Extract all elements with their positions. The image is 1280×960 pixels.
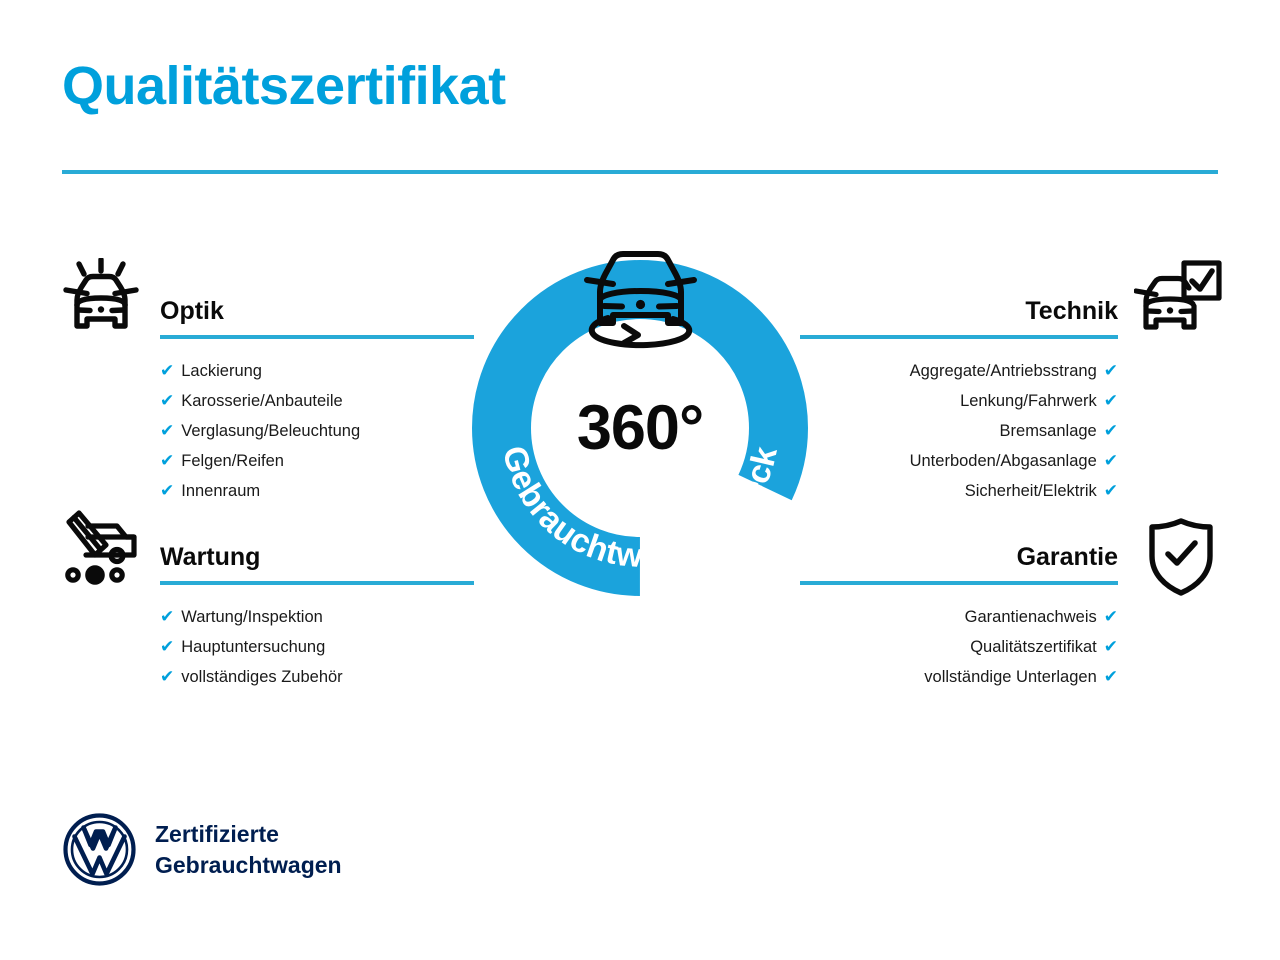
check-icon: ✔ bbox=[1104, 607, 1118, 626]
car-front-rotate-icon bbox=[568, 240, 713, 350]
check-icon: ✔ bbox=[1104, 451, 1118, 470]
section-technik: Technik Aggregate/Antriebsstrang✔ Lenkun… bbox=[800, 298, 1118, 506]
section-garantie: Garantie Garantienachweis✔ Qualitätszert… bbox=[800, 544, 1118, 692]
check-icon: ✔ bbox=[160, 481, 174, 500]
checklist-technik: Aggregate/Antriebsstrang✔ Lenkung/Fahrwe… bbox=[800, 356, 1118, 506]
pencil-car-service-icon bbox=[60, 510, 142, 597]
car-front-shine-icon bbox=[60, 258, 142, 347]
list-item-label: vollständiges Zubehör bbox=[181, 668, 342, 686]
list-item-label: Lackierung bbox=[181, 362, 262, 380]
list-item: ✔Felgen/Reifen bbox=[160, 446, 474, 476]
list-item: ✔vollständiges Zubehör bbox=[160, 662, 474, 692]
checklist-optik: ✔Lackierung ✔Karosserie/Anbauteile ✔Verg… bbox=[160, 356, 474, 506]
check-icon: ✔ bbox=[160, 451, 174, 470]
list-item: ✔Karosserie/Anbauteile bbox=[160, 386, 474, 416]
list-item: Qualitätszertifikat✔ bbox=[800, 632, 1118, 662]
list-item-label: Verglasung/Beleuchtung bbox=[181, 422, 360, 440]
checklist-wartung: ✔Wartung/Inspektion ✔Hauptuntersuchung ✔… bbox=[160, 602, 474, 692]
list-item: Garantienachweis✔ bbox=[800, 602, 1118, 632]
list-item-label: vollständige Unterlagen bbox=[924, 668, 1096, 686]
check-icon: ✔ bbox=[160, 607, 174, 626]
check-icon: ✔ bbox=[1104, 361, 1118, 380]
list-item: ✔Innenraum bbox=[160, 476, 474, 506]
list-item: ✔Wartung/Inspektion bbox=[160, 602, 474, 632]
header-divider bbox=[62, 170, 1218, 174]
check-icon: ✔ bbox=[1104, 667, 1118, 686]
section-title-optik: Optik bbox=[160, 298, 474, 326]
badge-360-check: Gebrauchtwagen-Check 360° bbox=[460, 248, 820, 608]
page-title: Qualitätszertifikat bbox=[62, 58, 506, 115]
section-title-wartung: Wartung bbox=[160, 544, 474, 572]
list-item-label: Lenkung/Fahrwerk bbox=[960, 392, 1097, 410]
footer-brand: Zertifizierte Gebrauchtwagen bbox=[62, 812, 342, 887]
section-optik: Optik ✔Lackierung ✔Karosserie/Anbauteile… bbox=[160, 298, 474, 506]
list-item-label: Qualitätszertifikat bbox=[970, 638, 1097, 656]
list-item: Bremsanlage✔ bbox=[800, 416, 1118, 446]
section-title-technik: Technik bbox=[800, 298, 1118, 326]
list-item-label: Innenraum bbox=[181, 482, 260, 500]
list-item: Sicherheit/Elektrik✔ bbox=[800, 476, 1118, 506]
list-item: Unterboden/Abgasanlage✔ bbox=[800, 446, 1118, 476]
list-item: vollständige Unterlagen✔ bbox=[800, 662, 1118, 692]
vw-logo bbox=[62, 812, 137, 887]
check-icon: ✔ bbox=[1104, 481, 1118, 500]
car-front-checkbox-icon bbox=[1134, 260, 1222, 347]
check-icon: ✔ bbox=[1104, 637, 1118, 656]
list-item: ✔Lackierung bbox=[160, 356, 474, 386]
shield-check-icon bbox=[1142, 516, 1220, 603]
list-item: Lenkung/Fahrwerk✔ bbox=[800, 386, 1118, 416]
section-title-garantie: Garantie bbox=[800, 544, 1118, 572]
list-item-label: Wartung/Inspektion bbox=[181, 608, 323, 626]
check-icon: ✔ bbox=[1104, 421, 1118, 440]
section-divider-technik bbox=[800, 335, 1118, 339]
checklist-garantie: Garantienachweis✔ Qualitätszertifikat✔ v… bbox=[800, 602, 1118, 692]
list-item-label: Sicherheit/Elektrik bbox=[965, 482, 1097, 500]
check-icon: ✔ bbox=[160, 421, 174, 440]
section-divider-garantie bbox=[800, 581, 1118, 585]
list-item: ✔Hauptuntersuchung bbox=[160, 632, 474, 662]
list-item-label: Hauptuntersuchung bbox=[181, 638, 325, 656]
list-item-label: Garantienachweis bbox=[965, 608, 1097, 626]
list-item: Aggregate/Antriebsstrang✔ bbox=[800, 356, 1118, 386]
section-divider-optik bbox=[160, 335, 474, 339]
list-item: ✔Verglasung/Beleuchtung bbox=[160, 416, 474, 446]
list-item-label: Bremsanlage bbox=[1000, 422, 1097, 440]
footer-brand-text: Zertifizierte Gebrauchtwagen bbox=[155, 819, 342, 880]
check-icon: ✔ bbox=[1104, 391, 1118, 410]
section-divider-wartung bbox=[160, 581, 474, 585]
check-icon: ✔ bbox=[160, 667, 174, 686]
check-icon: ✔ bbox=[160, 391, 174, 410]
list-item-label: Felgen/Reifen bbox=[181, 452, 284, 470]
list-item-label: Unterboden/Abgasanlage bbox=[910, 452, 1097, 470]
list-item-label: Aggregate/Antriebsstrang bbox=[910, 362, 1097, 380]
check-icon: ✔ bbox=[160, 637, 174, 656]
check-icon: ✔ bbox=[160, 361, 174, 380]
list-item-label: Karosserie/Anbauteile bbox=[181, 392, 342, 410]
section-wartung: Wartung ✔Wartung/Inspektion ✔Hauptunters… bbox=[160, 544, 474, 692]
